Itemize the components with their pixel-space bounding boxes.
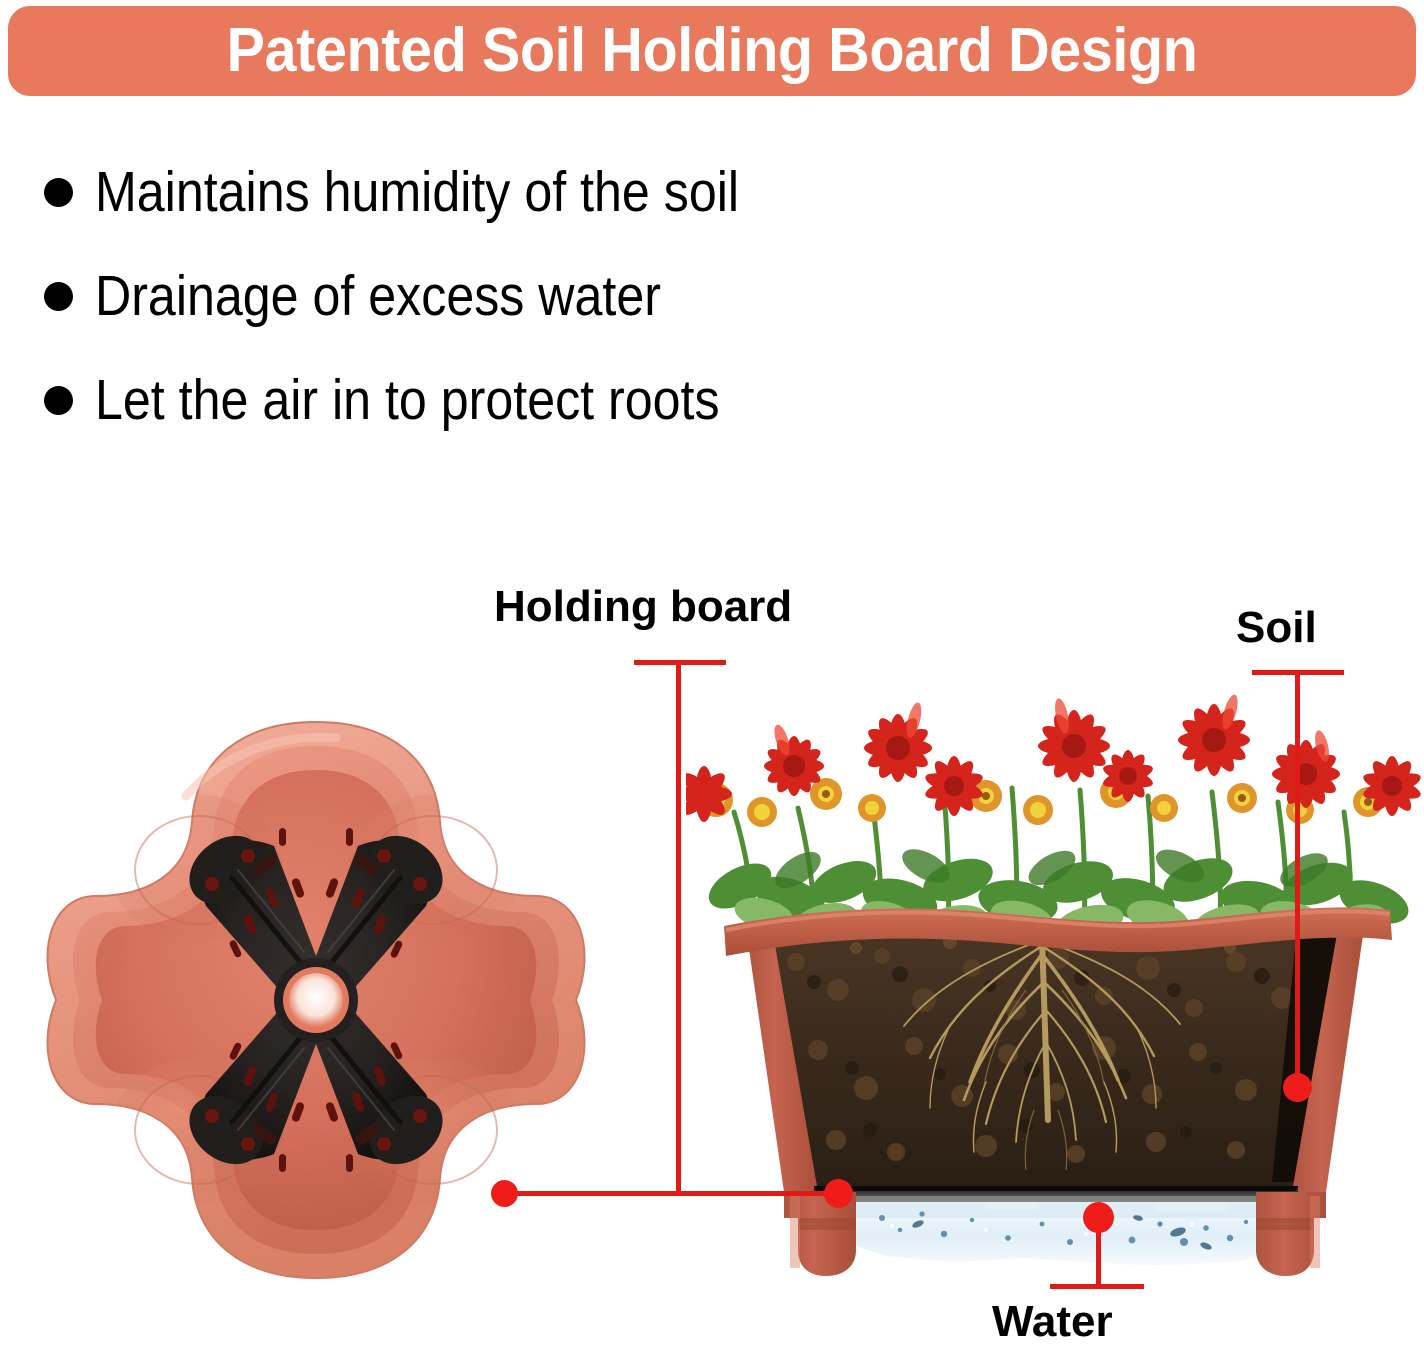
marker-dot-holding-board-right [824,1179,853,1208]
leader-bridge-holding-board [503,1191,839,1196]
callout-label-water: Water [992,1298,1113,1346]
water-reservoir [854,1202,1266,1266]
marker-dot-holding-board-left [491,1180,518,1207]
leader-stem-holding-board [676,660,681,1194]
leader-cap-water [1050,1284,1144,1289]
red-chrysanthemums [686,693,1423,822]
product-diagram: Holding board Soil Water [0,0,1424,1368]
holding-board-plate [814,1186,1298,1202]
leader-stem-soil [1295,670,1300,1086]
callout-label-soil: Soil [1236,604,1317,652]
callout-label-holding-board: Holding board [494,583,792,631]
marker-dot-water [1083,1202,1114,1233]
marker-dot-soil [1283,1073,1312,1102]
planter-top-view-image [36,700,596,1300]
pot-cross-section-image [686,690,1424,1300]
